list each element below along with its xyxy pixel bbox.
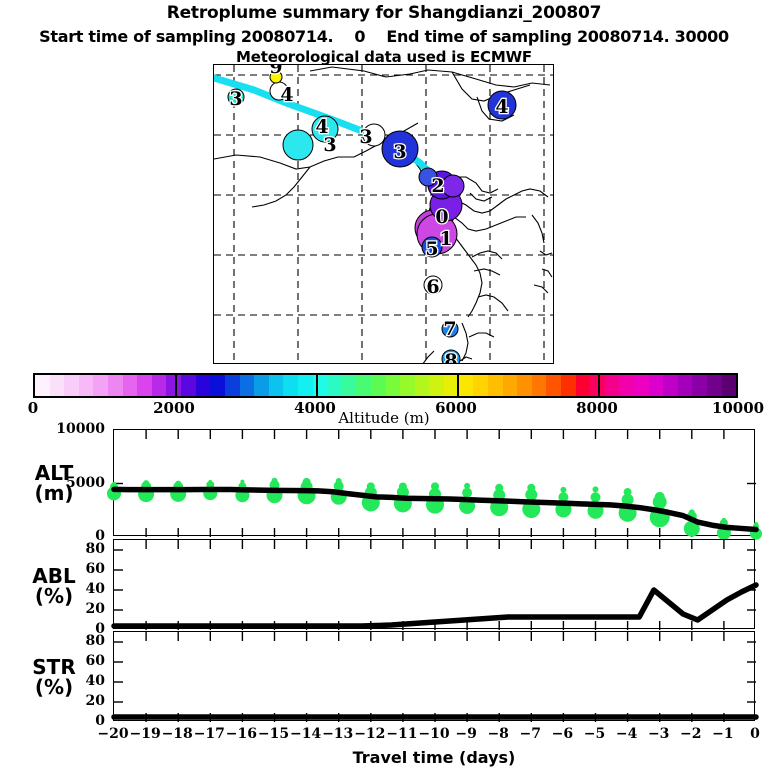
colorbar-cell [503, 375, 518, 396]
map-day-number: 7 [443, 318, 456, 340]
x-tick-label: −19 [129, 726, 160, 742]
retroplume-summary-figure: Retroplume summary for Shangdianzi_20080… [0, 0, 768, 768]
alt-scatter-point [624, 488, 632, 496]
colorbar-cell [342, 375, 357, 396]
abl-plot-canvas [114, 540, 756, 630]
y-tick-label: 40 [45, 581, 105, 597]
x-tick-marks [146, 632, 724, 722]
colorbar-cell [532, 375, 547, 396]
x-tick-label: −13 [322, 726, 353, 742]
alt-plot-canvas [114, 430, 756, 537]
x-tick-label: −14 [290, 726, 321, 742]
colorbar-divider [175, 375, 177, 396]
alt-scatter-point [462, 488, 472, 498]
y-tick-label: 10000 [45, 421, 105, 437]
x-tick-label: −16 [226, 726, 257, 742]
x-tick-label: −4 [616, 726, 637, 742]
map-day-number: 1 [439, 228, 452, 250]
x-tick-label: −12 [354, 726, 385, 742]
alt-scatter-point [175, 481, 181, 487]
alt-scatter-point [560, 487, 566, 493]
colorbar-cell [269, 375, 284, 396]
map-day-number: 2 [431, 175, 444, 197]
colorbar-cell [517, 375, 532, 396]
alt-scatter-point [591, 492, 601, 502]
alt-scatter-point [464, 483, 470, 489]
map-day-marker [283, 130, 313, 160]
colorbar-cell [649, 375, 664, 396]
colorbar-divider [457, 375, 459, 396]
colorbar-cell [298, 375, 313, 396]
colorbar-cell [93, 375, 108, 396]
x-tick-label: −2 [680, 726, 701, 742]
colorbar-cell [561, 375, 576, 396]
map-day-labels: 012333344456789 [229, 65, 508, 364]
colorbar-cell [225, 375, 240, 396]
x-tick-label: −8 [487, 726, 508, 742]
map-day-number: 4 [280, 84, 293, 106]
y-tick-label: 40 [45, 673, 105, 689]
colorbar-cell [722, 375, 737, 396]
alt-scatter-point [143, 480, 149, 486]
colorbar-cell [692, 375, 707, 396]
map-day-number: 9 [269, 65, 282, 78]
alt-scatter-point [527, 484, 535, 492]
map-day-number: 0 [435, 206, 448, 228]
colorbar-cell [459, 375, 474, 396]
map-canvas: 012333344456789 [214, 65, 554, 364]
y-tick-marks [114, 642, 756, 702]
colorbar-cell [386, 375, 401, 396]
colorbar-cell [429, 375, 444, 396]
colorbar-cell [619, 375, 634, 396]
str-plot-panel [113, 631, 755, 721]
alt-scatter-point [399, 482, 407, 490]
x-tick-label: −20 [97, 726, 128, 742]
x-tick-label: −10 [418, 726, 449, 742]
alt-scatter-point [593, 486, 599, 492]
map-day-number: 3 [393, 141, 406, 163]
y-tick-label: 5000 [45, 475, 105, 491]
colorbar-cell [64, 375, 79, 396]
abl-series-line [114, 585, 756, 626]
x-tick-label: −3 [648, 726, 669, 742]
alt-scatter-point [240, 480, 244, 484]
colorbar-cell [123, 375, 138, 396]
alt-scatter-point [272, 478, 278, 484]
y-tick-label: 60 [45, 561, 105, 577]
colorbar-cell [678, 375, 693, 396]
sampling-time-subtitle: Start time of sampling 20080714. 0 End t… [0, 27, 768, 46]
map-day-marker [442, 175, 464, 197]
y-tick-label: 60 [45, 653, 105, 669]
figure-title: Retroplume summary for Shangdianzi_20080… [0, 3, 768, 23]
alt-plot-panel [113, 429, 755, 536]
x-tick-label: −6 [552, 726, 573, 742]
alt-scatter-point [431, 482, 439, 490]
alt-scatter-point [208, 480, 212, 484]
colorbar-cell [634, 375, 649, 396]
x-tick-label: −7 [520, 726, 541, 742]
colorbar-cell [327, 375, 342, 396]
colorbar-gradient [35, 375, 736, 396]
y-tick-label: 80 [45, 541, 105, 557]
colorbar-cell [356, 375, 371, 396]
x-tick-label: −9 [455, 726, 476, 742]
x-tick-label: −1 [712, 726, 733, 742]
y-tick-label: 20 [45, 601, 105, 617]
colorbar-cell [166, 375, 181, 396]
map-day-number: 4 [315, 116, 328, 138]
colorbar-cell [108, 375, 123, 396]
colorbar-divider [598, 375, 600, 396]
colorbar-divider [316, 375, 318, 396]
colorbar-axis-label: Altitude (m) [0, 409, 768, 427]
alt-scatter-point [336, 478, 342, 484]
colorbar-cell [546, 375, 561, 396]
y-tick-label: 0 [45, 713, 105, 729]
colorbar-cell [663, 375, 678, 396]
map-day-number: 4 [495, 96, 508, 118]
x-tick-label: −17 [194, 726, 225, 742]
str-plot-canvas [114, 632, 756, 722]
map-day-number: 8 [444, 350, 457, 364]
map-day-number: 3 [229, 88, 242, 110]
alt-scatter-point [303, 478, 311, 486]
retroplume-map: 012333344456789 [213, 64, 554, 364]
map-day-number: 6 [426, 276, 439, 298]
colorbar-cell [473, 375, 488, 396]
abl-plot-panel [113, 539, 755, 629]
alt-scatter-point [367, 482, 375, 490]
colorbar-cell [415, 375, 430, 396]
alt-scatter-point [495, 484, 503, 492]
colorbar-cell [181, 375, 196, 396]
alt-scatter-point [689, 509, 695, 515]
x-tick-label: −11 [386, 726, 417, 742]
colorbar-cell [210, 375, 225, 396]
colorbar-cell [488, 375, 503, 396]
colorbar-cell [79, 375, 94, 396]
colorbar-cell [313, 375, 328, 396]
colorbar-cell [283, 375, 298, 396]
alt-scatter-point [655, 492, 665, 502]
alt-scatter-point [722, 518, 726, 522]
map-day-number: 5 [425, 238, 438, 260]
colorbar-cell [254, 375, 269, 396]
colorbar-cell [605, 375, 620, 396]
alt-scatter-point [112, 482, 116, 486]
colorbar-cell [371, 375, 386, 396]
map-day-number: 3 [359, 126, 372, 148]
colorbar-cell [240, 375, 255, 396]
colorbar-cell [35, 375, 50, 396]
colorbar-cell [152, 375, 167, 396]
x-axis-title: Travel time (days) [113, 748, 755, 767]
colorbar-cell [400, 375, 415, 396]
alt-scatter-point [754, 522, 758, 526]
colorbar-cell [707, 375, 722, 396]
colorbar-cell [50, 375, 65, 396]
x-tick-label: −18 [162, 726, 193, 742]
y-tick-label: 20 [45, 693, 105, 709]
colorbar-cell [137, 375, 152, 396]
y-tick-label: 80 [45, 633, 105, 649]
x-tick-label: 0 [750, 726, 760, 742]
y-tick-marks [114, 550, 756, 610]
colorbar-cell [196, 375, 211, 396]
map-day-markers [228, 71, 516, 364]
altitude-colorbar [33, 373, 738, 398]
x-tick-label: −15 [258, 726, 289, 742]
colorbar-cell [576, 375, 591, 396]
x-tick-label: −5 [584, 726, 605, 742]
